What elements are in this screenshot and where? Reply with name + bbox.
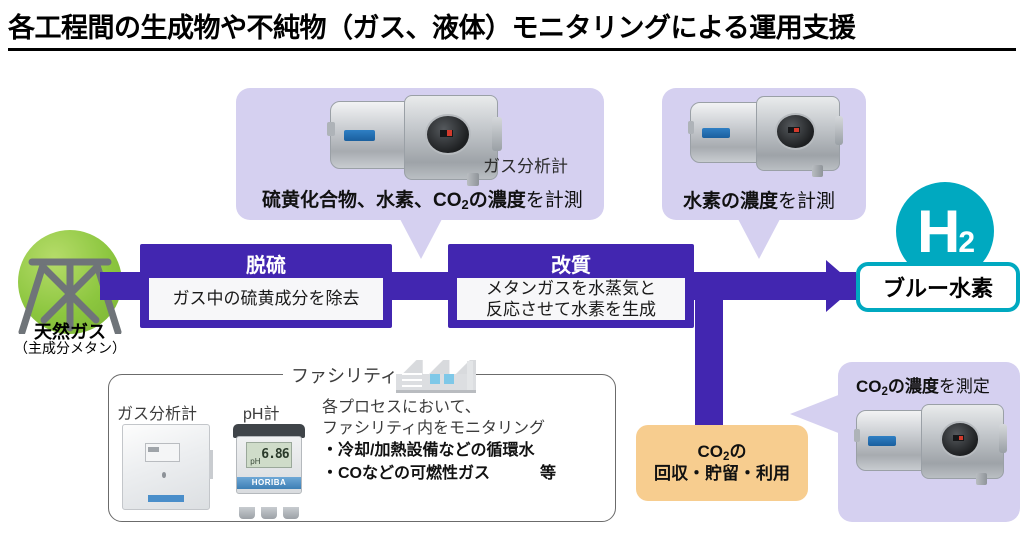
flow-bar-co2-branch	[695, 290, 723, 435]
process-title-reforming: 改質	[448, 249, 694, 278]
page-title: 各工程間の生成物や不純物（ガス、液体）モニタリングによる運用支援	[8, 6, 1016, 51]
hydrogen-formula: H	[917, 197, 958, 266]
callout-measure-3-thin: を測定	[939, 377, 990, 396]
hydrogen-label: ブルー水素	[883, 271, 993, 303]
facility-etc: 等	[540, 464, 556, 485]
process-box-reforming: 改質 メタンガスを水蒸気と 反応させて水素を生成	[448, 244, 694, 328]
callout-measure-2: 水素の濃度を計測	[683, 186, 835, 213]
factory-icon	[396, 360, 476, 396]
process-desc-desulfurization: ガス中の硫黄成分を除去	[149, 278, 383, 320]
gas-analyzer-icon	[856, 404, 1004, 486]
facility-bullet-1: ・冷却/加熱設備などの循環水	[322, 441, 534, 462]
callout-measure-3: CO2の濃度を測定	[856, 372, 990, 397]
co2-line1-formula: CO	[698, 442, 724, 461]
gas-analyzer-icon	[330, 95, 498, 187]
co2-line1: CO2の	[654, 441, 790, 463]
hydrogen-formula-sub: 2	[958, 226, 973, 260]
facility-device-label-gas-analyzer: ガス分析計	[117, 400, 197, 424]
callout-measure-3-tail: の濃度	[888, 377, 939, 396]
facility-title: ファシリティ	[283, 362, 406, 388]
gas-analyzer-icon	[690, 96, 840, 178]
co2-output-box: CO2の 回収・貯留・利用	[636, 425, 808, 501]
callout-measure-3-sub: 2	[882, 386, 888, 398]
ph-meter-display-unit: pH	[250, 457, 260, 466]
facility-bullet-2-text: ・COなどの可燃性ガス	[322, 465, 490, 482]
callout-tail-desulfurization	[400, 219, 442, 259]
facility-text-line1: 各プロセスにおいて、	[322, 398, 481, 419]
callout-tail-co2	[790, 392, 846, 436]
callout-measure-1-bold: 硫黄化合物、水素、CO	[262, 190, 462, 211]
hydrogen-label-box: ブルー水素	[856, 262, 1020, 312]
facility-text-line2: ファシリティ内をモニタリング	[322, 419, 545, 440]
natural-gas-sublabel: （主成分メタン）	[0, 338, 145, 358]
process-desc-reforming-line2: 反応させて水素を生成	[486, 299, 656, 320]
callout-measure-1-thin: を計測	[526, 190, 583, 211]
process-box-desulfurization: 脱硫 ガス中の硫黄成分を除去	[140, 244, 392, 328]
facility-bullet-1-text: ・冷却/加熱設備などの循環水	[322, 442, 534, 459]
wall-gas-analyzer-icon	[122, 424, 210, 510]
process-title-desulfurization: 脱硫	[140, 249, 392, 278]
callout-tail-reformer	[738, 219, 780, 259]
ph-meter-icon: 6.86 pH HORIBA	[232, 424, 306, 518]
callout-measure-1: 硫黄化合物、水素、CO2の濃度を計測	[262, 185, 583, 212]
facility-device-label-ph-meter: pH計	[243, 400, 279, 424]
ph-meter-brand: HORIBA	[237, 477, 302, 489]
callout-measure-1-tail: の濃度	[469, 190, 526, 211]
callout-device-label-1: ガス分析計	[483, 152, 568, 177]
callout-measure-2-bold: 水素の濃度	[683, 191, 778, 212]
co2-line1-tail: の	[729, 442, 746, 461]
process-desc-reforming-line1: メタンガスを水蒸気と	[486, 278, 656, 299]
flow-arrowhead-to-hydrogen	[826, 260, 856, 312]
diagram-canvas: 各工程間の生成物や不純物（ガス、液体）モニタリングによる運用支援 ガス分析計 硫…	[0, 0, 1024, 548]
callout-measure-1-sub: 2	[462, 197, 469, 212]
facility-bullet-2: ・COなどの可燃性ガス	[322, 464, 490, 485]
callout-measure-3-bold: CO	[856, 377, 882, 396]
co2-line2: 回収・貯留・利用	[654, 463, 790, 485]
callout-measure-2-thin: を計測	[778, 191, 835, 212]
process-desc-reforming: メタンガスを水蒸気と 反応させて水素を生成	[457, 278, 685, 320]
co2-line1-sub: 2	[723, 451, 729, 463]
